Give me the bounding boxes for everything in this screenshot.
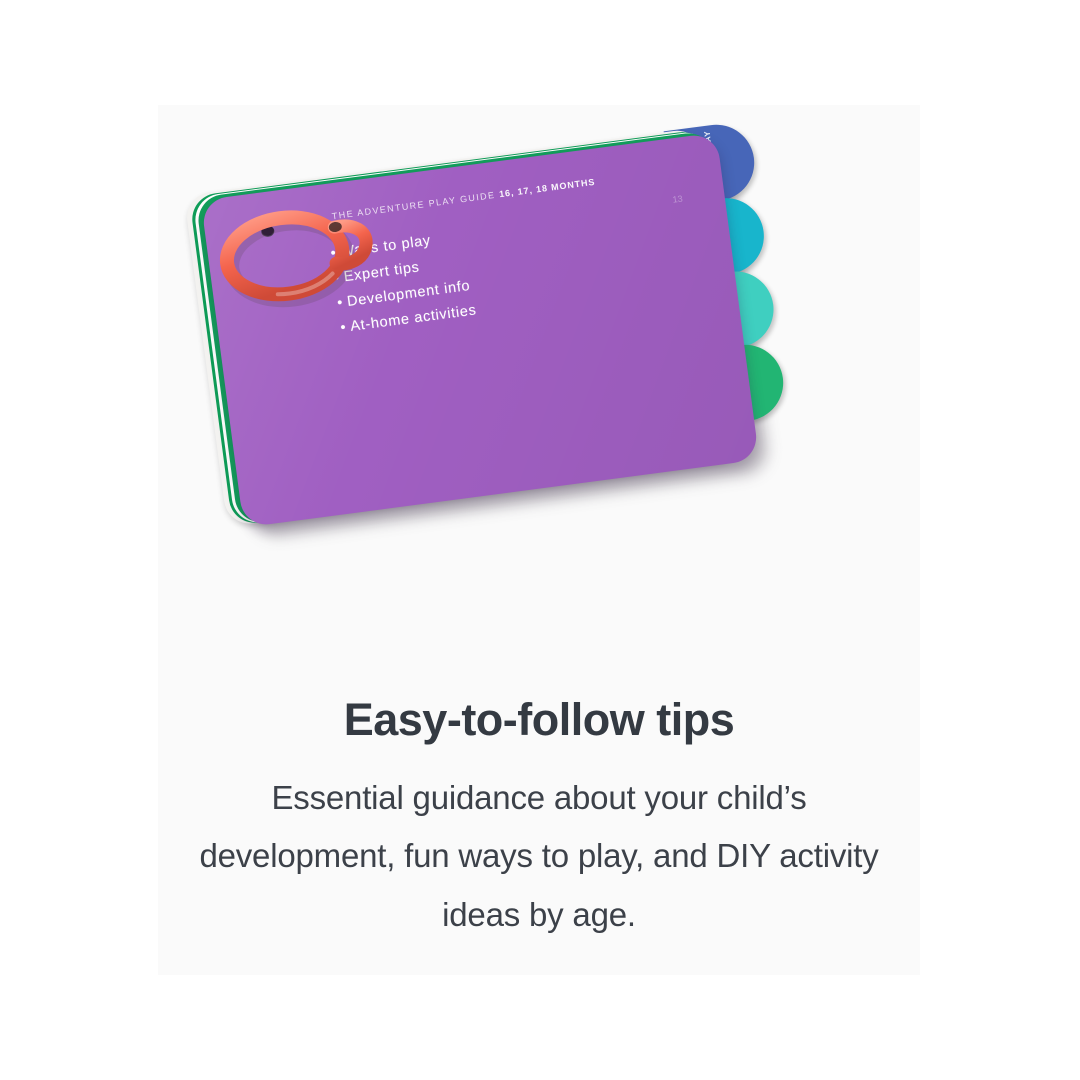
card-header-prefix: THE ADVENTURE PLAY GUIDE (331, 190, 496, 221)
card-header: THE ADVENTURE PLAY GUIDE 16, 17, 18 MONT… (331, 177, 596, 222)
card-page-number: 13 (672, 193, 683, 204)
content-panel: WAYS TO PLAY FUN WAYS TO PLAY DIY ACTIVI… (158, 105, 920, 975)
punch-hole (261, 225, 275, 238)
caption-block: Easy-to-follow tips Essential guidance a… (158, 695, 920, 945)
caption-body: Essential guidance about your child’s de… (189, 769, 889, 945)
hero-image: WAYS TO PLAY FUN WAYS TO PLAY DIY ACTIVI… (158, 105, 920, 625)
card-bullet-list: •Ways to play •Expert tips •Development … (329, 224, 478, 341)
caption-title: Easy-to-follow tips (158, 695, 920, 745)
front-card-purple[interactable]: THE ADVENTURE PLAY GUIDE 16, 17, 18 MONT… (201, 132, 760, 527)
page-root: WAYS TO PLAY FUN WAYS TO PLAY DIY ACTIVI… (0, 0, 1080, 1080)
card-header-age: 16, 17, 18 MONTHS (499, 177, 596, 200)
card-stack: WAYS TO PLAY FUN WAYS TO PLAY DIY ACTIVI… (201, 132, 760, 527)
